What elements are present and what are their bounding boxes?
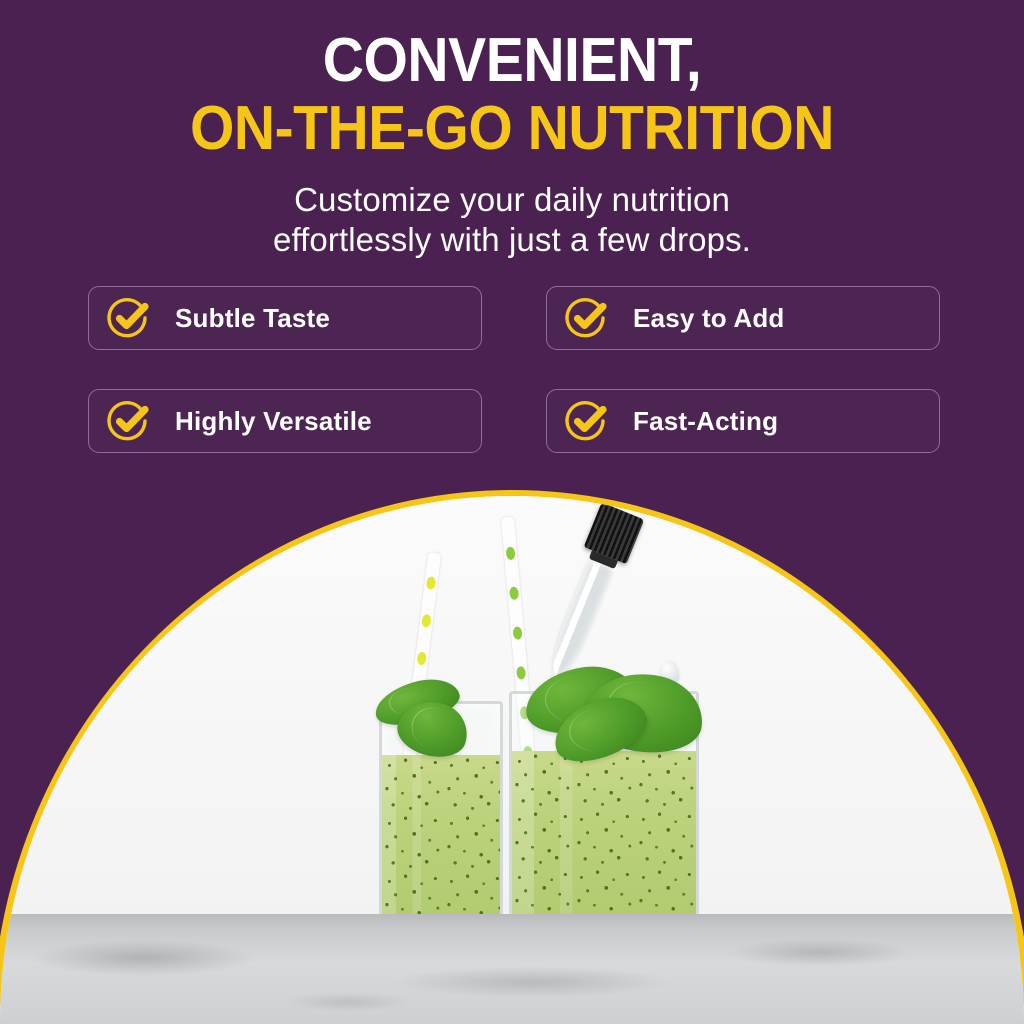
feature-pill-highly-versatile[interactable]: Highly Versatile bbox=[88, 389, 482, 453]
subtitle-line-1: Customize your daily nutrition bbox=[0, 180, 1024, 220]
check-circle-icon bbox=[105, 294, 153, 342]
stone-countertop bbox=[0, 914, 1024, 1024]
subtitle-line-2: effortlessly with just a few drops. bbox=[0, 220, 1024, 260]
feature-pill-subtle-taste[interactable]: Subtle Taste bbox=[88, 286, 482, 350]
headline: CONVENIENT, ON-THE-GO NUTRITION bbox=[0, 28, 1024, 164]
smoothie-photo bbox=[0, 496, 1024, 1024]
feature-list: Subtle Taste Easy to Add Highly Versatil… bbox=[88, 286, 940, 453]
feature-pill-easy-to-add[interactable]: Easy to Add bbox=[546, 286, 940, 350]
headline-line-2: ON-THE-GO NUTRITION bbox=[41, 94, 983, 164]
feature-pill-label: Fast-Acting bbox=[633, 406, 778, 437]
feature-pill-label: Subtle Taste bbox=[175, 303, 330, 334]
headline-line-1: CONVENIENT, bbox=[41, 28, 983, 94]
feature-pill-label: Easy to Add bbox=[633, 303, 784, 334]
product-photo-arch bbox=[0, 490, 1024, 1024]
feature-pill-fast-acting[interactable]: Fast-Acting bbox=[546, 389, 940, 453]
check-circle-icon bbox=[105, 397, 153, 445]
check-circle-icon bbox=[563, 294, 611, 342]
feature-pill-label: Highly Versatile bbox=[175, 406, 372, 437]
check-circle-icon bbox=[563, 397, 611, 445]
subtitle: Customize your daily nutrition effortles… bbox=[0, 180, 1024, 260]
